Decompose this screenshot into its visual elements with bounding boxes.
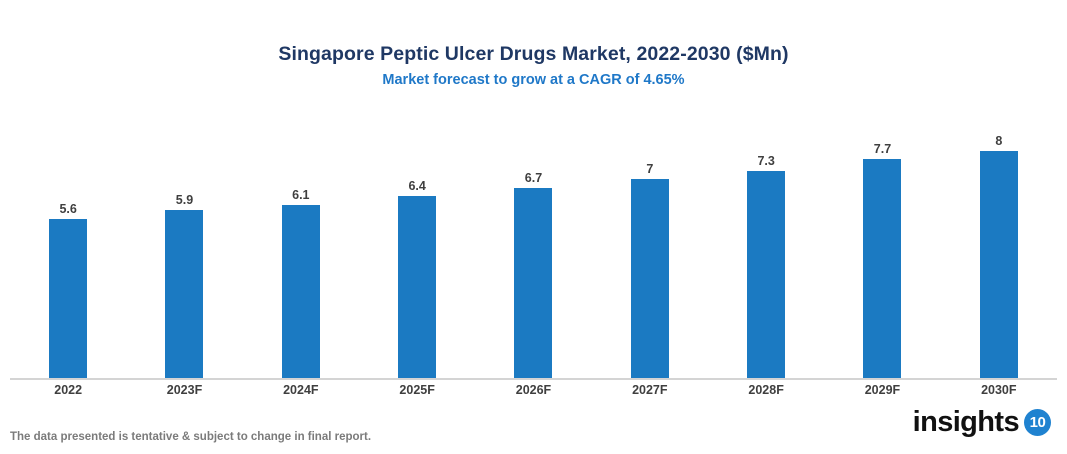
bar[interactable]	[282, 205, 320, 378]
bar[interactable]	[631, 179, 669, 378]
logo-badge-10: 10	[1024, 409, 1051, 436]
bar[interactable]	[863, 159, 901, 378]
bar-value-label: 6.7	[475, 171, 591, 185]
bar-value-label: 7.7	[824, 142, 940, 156]
bar-slot: 7.7	[824, 108, 940, 378]
bar-slot: 6.4	[359, 108, 475, 378]
bar[interactable]	[49, 219, 87, 378]
bar-series: 5.65.96.16.46.777.37.78	[10, 108, 1057, 378]
x-axis-label-2023F: 2023F	[126, 381, 242, 399]
bar-value-label: 5.9	[126, 193, 242, 207]
bar-value-label: 7.3	[708, 154, 824, 168]
x-axis-label-2030F: 2030F	[941, 381, 1057, 399]
chart-title: Singapore Peptic Ulcer Drugs Market, 202…	[0, 42, 1067, 66]
x-axis-line	[10, 378, 1057, 380]
x-axis-label-2022: 2022	[10, 381, 126, 399]
bar-slot: 5.9	[126, 108, 242, 378]
bar-slot: 6.7	[475, 108, 591, 378]
bar[interactable]	[165, 210, 203, 378]
plot-area: 5.65.96.16.46.777.37.78	[10, 108, 1057, 378]
x-axis-label-2029F: 2029F	[824, 381, 940, 399]
logo-wordmark: insights	[913, 407, 1019, 437]
bar[interactable]	[398, 196, 436, 378]
bar-slot: 5.6	[10, 108, 126, 378]
bar[interactable]	[747, 171, 785, 378]
x-axis-label-2025F: 2025F	[359, 381, 475, 399]
bar[interactable]	[514, 188, 552, 378]
bar-slot: 8	[941, 108, 1057, 378]
x-axis-label-2028F: 2028F	[708, 381, 824, 399]
x-axis-label-2026F: 2026F	[475, 381, 591, 399]
bar-value-label: 6.4	[359, 179, 475, 193]
chart-header: Singapore Peptic Ulcer Drugs Market, 202…	[0, 42, 1067, 89]
x-axis-tick-labels: 20222023F2024F2025F2026F2027F2028F2029F2…	[10, 381, 1057, 399]
bar-slot: 6.1	[243, 108, 359, 378]
chart-subtitle: Market forecast to grow at a CAGR of 4.6…	[0, 71, 1067, 89]
footnote: The data presented is tentative & subjec…	[10, 430, 371, 444]
bar[interactable]	[980, 151, 1018, 378]
bar-slot: 7.3	[708, 108, 824, 378]
x-axis-label-2024F: 2024F	[243, 381, 359, 399]
bar-value-label: 6.1	[243, 188, 359, 202]
bar-slot: 7	[592, 108, 708, 378]
bar-value-label: 5.6	[10, 202, 126, 216]
x-axis-label-2027F: 2027F	[592, 381, 708, 399]
chart-canvas: Singapore Peptic Ulcer Drugs Market, 202…	[0, 0, 1067, 454]
bar-value-label: 7	[592, 162, 708, 176]
insights10-logo: insights 10	[913, 405, 1051, 439]
bar-value-label: 8	[941, 134, 1057, 148]
